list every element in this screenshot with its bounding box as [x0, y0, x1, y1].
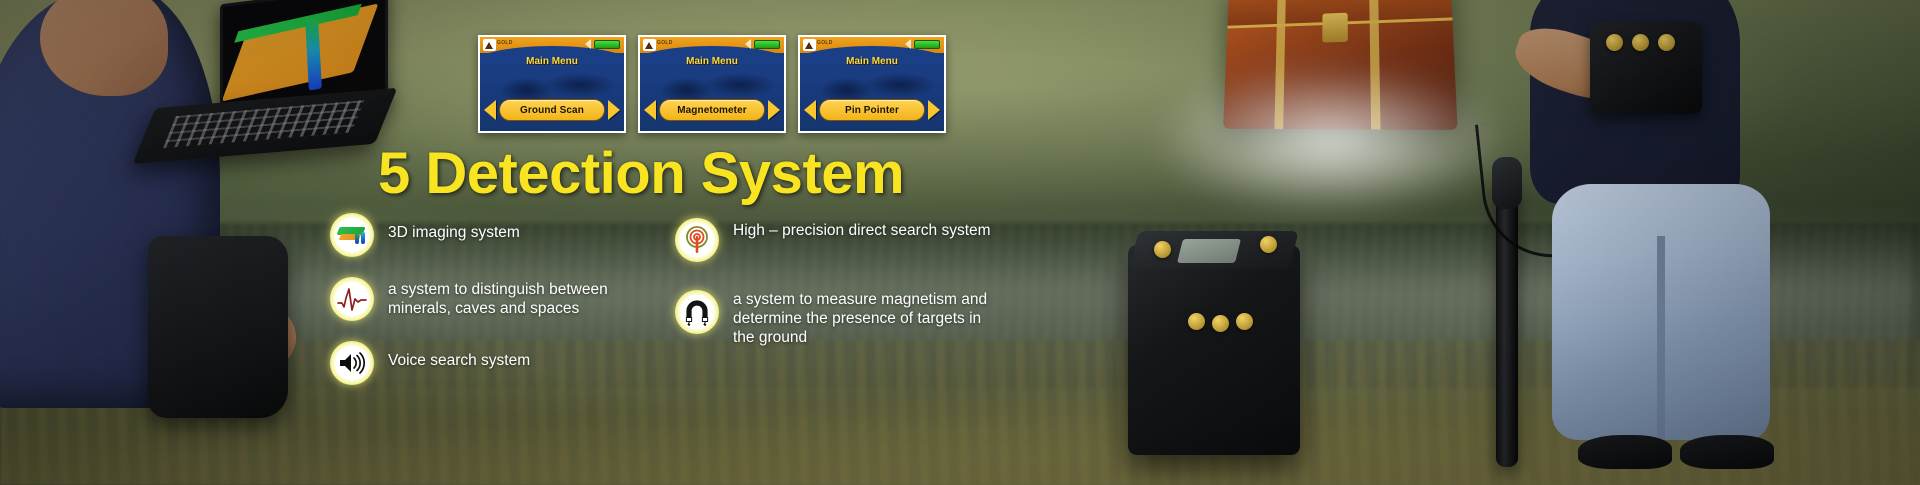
laptop-keyboard-base — [133, 88, 398, 164]
device-display — [1177, 239, 1241, 263]
panel-selector-row: Pin Pointer — [804, 99, 940, 121]
pouch-knob — [1632, 34, 1649, 51]
chest-lock-icon — [1322, 13, 1348, 43]
speaker-icon — [585, 39, 591, 49]
man-shoe — [1578, 435, 1672, 469]
chevron-left-icon[interactable] — [644, 100, 656, 120]
mode-button[interactable]: Pin Pointer — [819, 99, 925, 121]
pouch-knob — [1606, 34, 1623, 51]
detector-case-device — [1128, 245, 1300, 455]
belt-pouch-device — [1590, 22, 1702, 114]
battery-full-icon — [914, 40, 940, 49]
horseshoe-magnet-icon — [675, 290, 719, 334]
gold-hunter-logo-icon — [483, 39, 496, 51]
feature-label: Voice search system — [388, 341, 530, 370]
waveform-pulse-icon — [330, 277, 374, 321]
feature-label: a system to distinguish between minerals… — [388, 277, 660, 318]
feature-item-3d-imaging: 3D imaging system — [330, 213, 660, 257]
promo-banner: GOLD Main Menu Ground Scan GOLD Main Men… — [0, 0, 1920, 485]
feature-item-voice-search: Voice search system — [330, 341, 660, 385]
menu-panels-group: GOLD Main Menu Ground Scan GOLD Main Men… — [478, 35, 946, 133]
chevron-right-icon[interactable] — [928, 100, 940, 120]
man-jeans — [1552, 184, 1770, 440]
device-knob — [1212, 315, 1229, 332]
keyboard-keys — [163, 100, 364, 148]
chevron-left-icon[interactable] — [804, 100, 816, 120]
panel-selector-row: Ground Scan — [484, 99, 620, 121]
feature-item-mineral-distinction: a system to distinguish between minerals… — [330, 277, 660, 321]
device-knob — [1188, 313, 1205, 330]
3d-terrain-icon — [330, 213, 374, 257]
jeans-seam — [1657, 236, 1665, 440]
gold-hunter-logo-icon — [643, 39, 656, 51]
speaker-icon — [905, 39, 911, 49]
feature-label: 3D imaging system — [388, 213, 520, 242]
panel-title: Main Menu — [640, 56, 784, 67]
panel-title: Main Menu — [480, 56, 624, 67]
pouch-knob — [1658, 34, 1675, 51]
panel-brand-label: GOLD — [817, 40, 833, 46]
speaker-sound-icon — [330, 341, 374, 385]
battery-full-icon — [754, 40, 780, 49]
features-column-left: 3D imaging system a system to distinguis… — [330, 213, 660, 405]
feature-label: a system to measure magnetism and determ… — [733, 290, 1005, 347]
panel-title: Main Menu — [800, 56, 944, 67]
mode-button[interactable]: Ground Scan — [499, 99, 605, 121]
page-title: 5 Detection System — [378, 140, 904, 207]
device-knob — [1154, 241, 1171, 258]
menu-panel-pin-pointer[interactable]: GOLD Main Menu Pin Pointer — [798, 35, 946, 133]
gold-hunter-logo-icon — [803, 39, 816, 51]
panel-selector-row: Magnetometer — [644, 99, 780, 121]
chevron-right-icon[interactable] — [608, 100, 620, 120]
feature-item-high-precision: High – precision direct search system — [675, 218, 1005, 262]
man-shoe — [1680, 435, 1774, 469]
menu-panel-magnetometer[interactable]: GOLD Main Menu Magnetometer — [638, 35, 786, 133]
mode-button[interactable]: Magnetometer — [659, 99, 765, 121]
speaker-icon — [745, 39, 751, 49]
panel-brand-label: GOLD — [497, 40, 513, 46]
panel-brand-label: GOLD — [657, 40, 673, 46]
feature-label: High – precision direct search system — [733, 218, 991, 240]
pouch-knobs — [1606, 34, 1675, 51]
device-knob — [1260, 236, 1277, 253]
laptop — [148, 0, 388, 154]
battery-full-icon — [594, 40, 620, 49]
menu-panel-ground-scan[interactable]: GOLD Main Menu Ground Scan — [478, 35, 626, 133]
chevron-right-icon[interactable] — [768, 100, 780, 120]
chevron-left-icon[interactable] — [484, 100, 496, 120]
features-column-right: High – precision direct search system a … — [675, 218, 1005, 367]
feature-item-magnetometer: a system to measure magnetism and determ… — [675, 290, 1005, 347]
shoulder-bag — [148, 236, 288, 418]
signal-broadcast-icon — [675, 218, 719, 262]
device-knob — [1236, 313, 1253, 330]
